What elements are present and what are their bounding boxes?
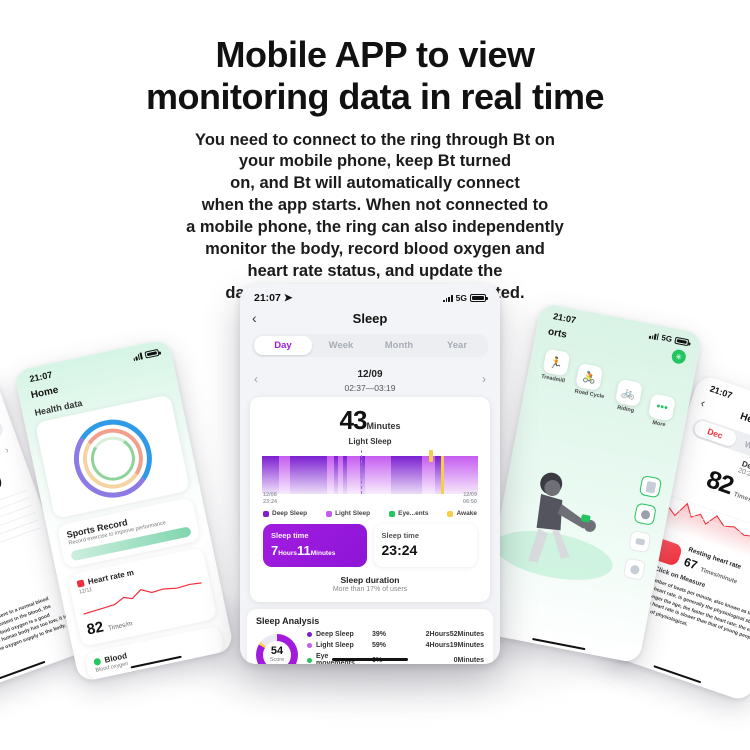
nav-bar: ‹ Sleep: [240, 306, 500, 334]
page-title-line2: monitoring data in real time: [40, 76, 710, 118]
sleep-value-block: 43Minutes Light Sleep: [254, 405, 486, 446]
header: Mobile APP to view monitoring data in re…: [0, 0, 750, 305]
heart-rate-unit: Times/m: [108, 620, 134, 632]
date-label: 12/09: [357, 369, 382, 380]
sport-item-road-cycle[interactable]: 🚴 Road Cycle: [574, 363, 610, 400]
sleep-hours-unit: Hours: [278, 550, 297, 557]
sport-label: Riding: [613, 404, 638, 414]
legend-deep-sleep: Deep Sleep: [263, 510, 307, 517]
sleep-start-card[interactable]: Sleep time 23:24: [374, 524, 478, 567]
legend-label: Eye...ents: [398, 510, 428, 517]
subtitle-line: monitor the body, record blood oxygen an…: [60, 239, 690, 261]
status-bar: 21:07 ➤ 5G: [240, 284, 500, 306]
page-title-line1: Mobile APP to view: [215, 34, 534, 75]
chart-start-label: 12/08 23:24: [263, 492, 277, 506]
sleep-value: 43: [340, 405, 367, 435]
sleep-time-value: 7Hours11Minutes: [271, 542, 359, 560]
network-label: 5G: [456, 293, 467, 303]
bike-icon: 🚴: [576, 363, 604, 391]
tab-day[interactable]: Day: [254, 336, 312, 355]
sleep-value-unit: Minutes: [366, 421, 400, 431]
runner-illustration: [492, 450, 633, 591]
chart-end-date: 12/09: [463, 492, 477, 499]
chart-start-date: 12/08: [263, 492, 277, 499]
legend-light-sleep: Light Sleep: [326, 510, 370, 517]
subtitle-line: your mobile phone, keep Bt turned: [60, 151, 690, 173]
date-selector[interactable]: ‹ 12/09 02:37—03:19 ›: [240, 357, 500, 393]
row-duration: 2Hours52Minutes: [426, 631, 484, 638]
tab-week[interactable]: Week: [312, 336, 370, 355]
device-power-icon[interactable]: [623, 557, 646, 580]
sleep-minutes: 11: [297, 543, 311, 558]
subtitle-line: on, and Bt will automatically connect: [60, 173, 690, 195]
legend-awake: Awake: [447, 510, 476, 517]
sleep-stage-label: Light Sleep: [254, 437, 486, 446]
home-indicator: [0, 660, 45, 679]
legend-eye-movements: Eye...ents: [389, 510, 428, 517]
score-label: Score: [270, 657, 284, 663]
phone-showcase: 21:07 ‹ Blood oxygen satu Day Week Mon ‹…: [0, 270, 750, 750]
legend-label: Awake: [456, 510, 476, 517]
chart-end-time: 06:50: [463, 499, 477, 506]
more-icon: •••: [648, 393, 676, 421]
health-rings-card[interactable]: [35, 394, 190, 519]
chart-marker-line: [361, 450, 362, 494]
sport-item-more[interactable]: ••• More: [646, 393, 676, 429]
sleep-chart-legend: Deep Sleep Light Sleep Eye...ents Awake: [254, 502, 486, 517]
date-range: 02:37—03:19: [258, 383, 482, 393]
oxygen-icon: [93, 658, 101, 666]
subtitle-line: You need to connect to the ring through …: [60, 130, 690, 152]
row-percent: 59%: [372, 642, 396, 649]
status-time-row: 21:07 ➤: [254, 292, 293, 304]
subtitle-line: a mobile phone, the ring can also indepe…: [60, 217, 690, 239]
legend-label: Light Sleep: [335, 510, 370, 517]
row-name: Light Sleep: [316, 642, 368, 649]
network-label: 5G: [661, 333, 673, 344]
home-indicator: [332, 658, 408, 662]
device-ring-icon[interactable]: [633, 502, 656, 525]
tab-month[interactable]: Month: [370, 336, 428, 355]
treadmill-icon: 🏃: [542, 348, 570, 376]
analysis-row: Light Sleep 59% 4Hours19Minutes: [307, 642, 484, 649]
score-value: 54: [271, 646, 283, 657]
row-duration: 0Minutes: [454, 657, 484, 664]
sleep-time-cards: Sleep time 7Hours11Minutes Sleep time 23…: [254, 517, 486, 567]
page-title: Mobile APP to view monitoring data in re…: [0, 34, 750, 118]
nav-title: Sleep: [268, 311, 472, 326]
analysis-title: Sleep Analysis: [256, 616, 484, 626]
activity-rings: [67, 412, 160, 505]
duration-sub: More than 17% of users: [254, 586, 486, 593]
location-arrow-icon: ➤: [284, 292, 293, 304]
device-band-icon[interactable]: [628, 530, 651, 553]
next-date-icon[interactable]: ›: [482, 372, 486, 386]
date-display: 12/09 02:37—03:19: [258, 364, 482, 393]
battery-icon: [674, 336, 689, 346]
battery-icon: [470, 294, 486, 302]
sleep-start-value: 23:24: [382, 542, 470, 558]
sleep-analysis-card: Sleep Analysis 54 Score Deep Sleep 39%: [247, 609, 493, 664]
sport-item-riding[interactable]: 🚲 Riding: [613, 379, 643, 415]
sport-label: Road Cycle: [574, 389, 605, 401]
battery-icon: [144, 348, 159, 358]
row-percent: 39%: [372, 631, 396, 638]
sport-label: Treadmill: [541, 374, 566, 384]
duration-title: Sleep duration: [254, 575, 486, 585]
heart-icon: [77, 579, 85, 587]
analysis-row: Deep Sleep 39% 2Hours52Minutes: [307, 631, 484, 638]
subtitle-line: when the app starts. When not connected …: [60, 195, 690, 217]
sleep-duration-card[interactable]: Sleep time 7Hours11Minutes: [263, 524, 367, 567]
signal-icon: [649, 331, 660, 340]
sleep-minutes-unit: Minutes: [311, 550, 336, 557]
chart-start-time: 23:24: [263, 499, 277, 506]
sleep-start-label: Sleep time: [382, 531, 470, 540]
legend-label: Deep Sleep: [272, 510, 307, 517]
sport-item-treadmill[interactable]: 🏃 Treadmill: [541, 348, 571, 384]
sleep-summary-card: 43Minutes Light Sleep: [250, 397, 490, 602]
phone-sleep[interactable]: 21:07 ➤ 5G ‹ Sleep Day Week Month Year: [240, 284, 500, 664]
heart-rate-value: 82: [85, 618, 105, 638]
period-tabs[interactable]: Day Week Month Year: [252, 334, 488, 357]
sleep-stage-chart: 12/08 23:24 12/09 06:50: [262, 450, 478, 502]
awake-marker-icon: [429, 450, 433, 462]
row-name: Deep Sleep: [316, 631, 368, 638]
home-indicator: [653, 665, 701, 684]
sleep-time-label: Sleep time: [271, 531, 359, 540]
chart-end-label: 12/09 06:50: [463, 492, 477, 506]
device-watch-icon[interactable]: [639, 475, 662, 498]
score-center: 54 Score: [256, 634, 298, 665]
tab-year[interactable]: Year: [428, 336, 486, 355]
row-duration: 4Hours19Minutes: [426, 642, 484, 649]
status-icons: 5G: [443, 293, 486, 303]
chevron-left-icon[interactable]: ‹: [252, 310, 268, 326]
resting-value: 67: [682, 555, 699, 573]
signal-icon: [443, 294, 452, 302]
sleep-score-donut: 54 Score: [256, 634, 298, 665]
sleep-chart-plot: [262, 456, 478, 494]
signal-icon: [132, 352, 143, 361]
riding-icon: 🚲: [615, 379, 643, 407]
sleep-duration-summary: Sleep duration More than 17% of users: [254, 567, 486, 593]
sleep-screen: 21:07 ➤ 5G ‹ Sleep Day Week Month Year: [240, 284, 500, 664]
status-time: 21:07: [254, 292, 281, 304]
